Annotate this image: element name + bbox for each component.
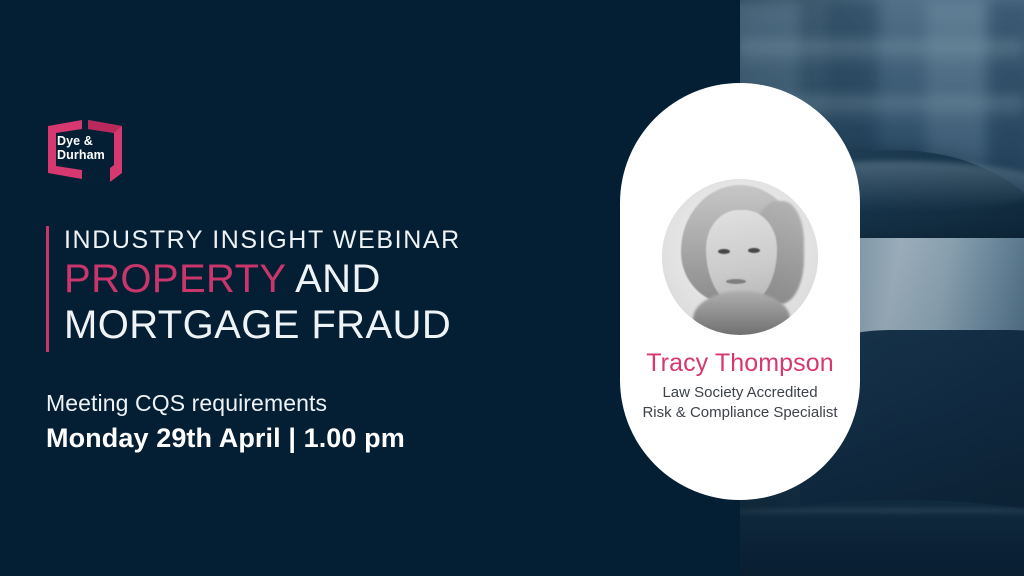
avatar	[662, 179, 818, 335]
title-highlight: PROPERTY	[64, 257, 286, 301]
speaker-card: Tracy Thompson Law Society Accredited Ri…	[620, 83, 860, 500]
speaker-role-line-1: Law Society Accredited	[620, 383, 860, 403]
heading-block: INDUSTRY INSIGHT WEBINAR PROPERTY AND MO…	[64, 224, 534, 348]
title-line-1: PROPERTY AND	[64, 256, 534, 302]
subtitle-block: Meeting CQS requirements Monday 29th Apr…	[46, 386, 546, 456]
logo-line-2: Durham	[57, 148, 113, 162]
portrait-eye-right	[748, 248, 760, 253]
portrait-mouth	[726, 279, 746, 284]
webinar-promo-banner: Dye & Durham INDUSTRY INSIGHT WEBINAR PR…	[0, 0, 1024, 576]
speaker-name: Tracy Thompson	[620, 349, 860, 378]
speaker-role: Law Society Accredited Risk & Compliance…	[620, 383, 860, 423]
dye-and-durham-logo[interactable]: Dye & Durham	[46, 118, 124, 184]
logo-wordmark: Dye & Durham	[57, 134, 113, 162]
title-line-2: MORTGAGE FRAUD	[64, 302, 534, 348]
speaker-role-line-2: Risk & Compliance Specialist	[620, 403, 860, 423]
subtitle-topic: Meeting CQS requirements	[46, 386, 546, 420]
logo-line-1: Dye &	[57, 134, 113, 148]
webinar-kicker: INDUSTRY INSIGHT WEBINAR	[64, 224, 534, 256]
title-rest: AND	[286, 257, 381, 301]
subtitle-datetime: Monday 29th April | 1.00 pm	[46, 420, 546, 456]
pink-accent-bar	[46, 226, 49, 352]
speaker-portrait-image	[662, 179, 818, 335]
